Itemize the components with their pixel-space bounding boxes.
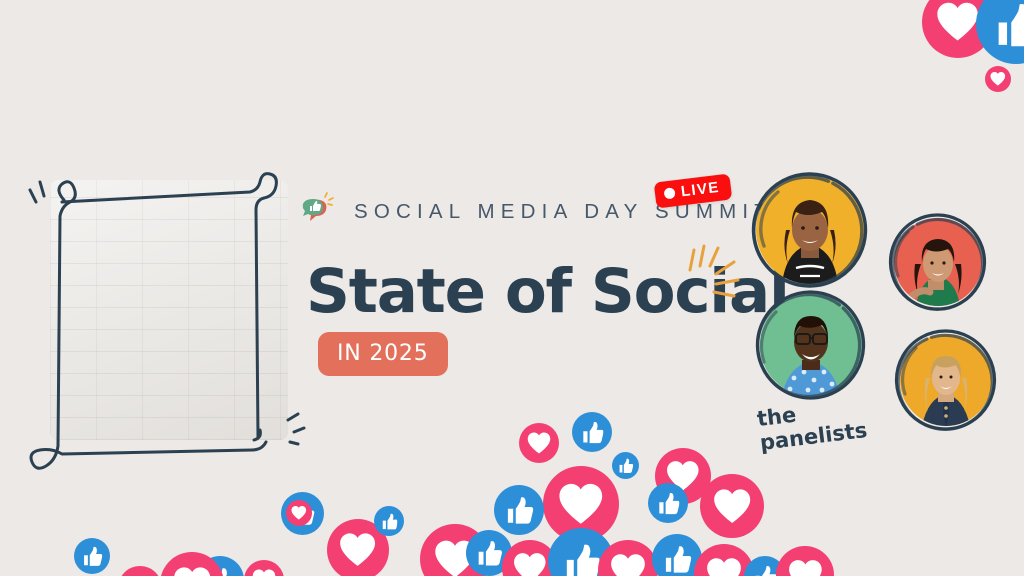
thumbs-up-icon xyxy=(657,492,679,514)
live-badge-label: LIVE xyxy=(680,179,721,201)
heart-icon xyxy=(990,71,1006,87)
reaction-heart-bubble xyxy=(286,500,312,526)
heart-icon xyxy=(713,487,751,525)
host-photo-background xyxy=(50,180,288,440)
reaction-like-bubble xyxy=(74,538,110,574)
page-title: State of Social xyxy=(306,256,789,327)
thumbs-up-icon xyxy=(753,566,777,576)
thumbs-up-icon xyxy=(663,546,691,574)
panelist-4[interactable] xyxy=(892,326,1000,434)
host-photo xyxy=(50,180,288,440)
live-dot-icon xyxy=(663,187,675,199)
reaction-heart-bubble xyxy=(776,546,834,576)
thumbs-up-icon xyxy=(476,541,502,567)
thumbs-up-icon xyxy=(381,513,398,530)
brand-name: SOCIAL MEDIA DAY SUMMIT xyxy=(354,200,773,224)
panelist-4-ring xyxy=(892,326,1000,434)
reaction-heart-bubble xyxy=(700,474,764,538)
panelist-2-ring xyxy=(886,210,990,314)
thumbs-up-icon xyxy=(581,421,603,443)
panelist-1[interactable] xyxy=(748,168,872,292)
heart-icon xyxy=(252,568,276,576)
thumbs-up-heart-speech-bubbles-icon xyxy=(300,192,340,232)
panelist-1-ring xyxy=(748,168,872,292)
reaction-heart-bubble xyxy=(985,66,1011,92)
heart-icon xyxy=(788,558,823,576)
thumbs-up-icon xyxy=(618,458,633,473)
reaction-heart-bubble xyxy=(244,560,284,576)
heart-icon xyxy=(513,551,547,576)
host-block: Your Host xyxy=(22,150,322,490)
reaction-like-bubble xyxy=(976,0,1024,64)
poster-canvas: Your Host SOCIAL MEDIA DAY SUMMIT LIVE S… xyxy=(0,0,1024,576)
heart-icon xyxy=(558,481,604,527)
heart-icon xyxy=(706,556,742,576)
reaction-heart-bubble xyxy=(519,423,559,463)
reaction-like-bubble xyxy=(612,452,639,479)
heart-icon xyxy=(527,431,551,455)
reaction-like-bubble xyxy=(572,412,612,452)
panelist-3[interactable] xyxy=(752,286,870,404)
heart-icon xyxy=(339,531,376,568)
reaction-like-bubble xyxy=(374,506,404,536)
panelist-2[interactable] xyxy=(886,210,990,314)
panelist-3-ring xyxy=(752,286,870,404)
reaction-heart-bubble xyxy=(118,566,162,576)
thumbs-up-icon xyxy=(563,543,600,576)
heart-icon xyxy=(173,565,211,576)
thumbs-up-icon xyxy=(505,497,533,525)
heart-icon xyxy=(936,0,979,43)
heart-icon xyxy=(291,505,307,521)
year-badge: IN 2025 xyxy=(318,332,448,376)
reaction-like-bubble xyxy=(648,483,688,523)
thumbs-up-icon xyxy=(994,2,1024,47)
thumbs-up-icon xyxy=(82,546,102,566)
reaction-like-bubble xyxy=(494,485,544,535)
heart-icon xyxy=(610,552,646,576)
